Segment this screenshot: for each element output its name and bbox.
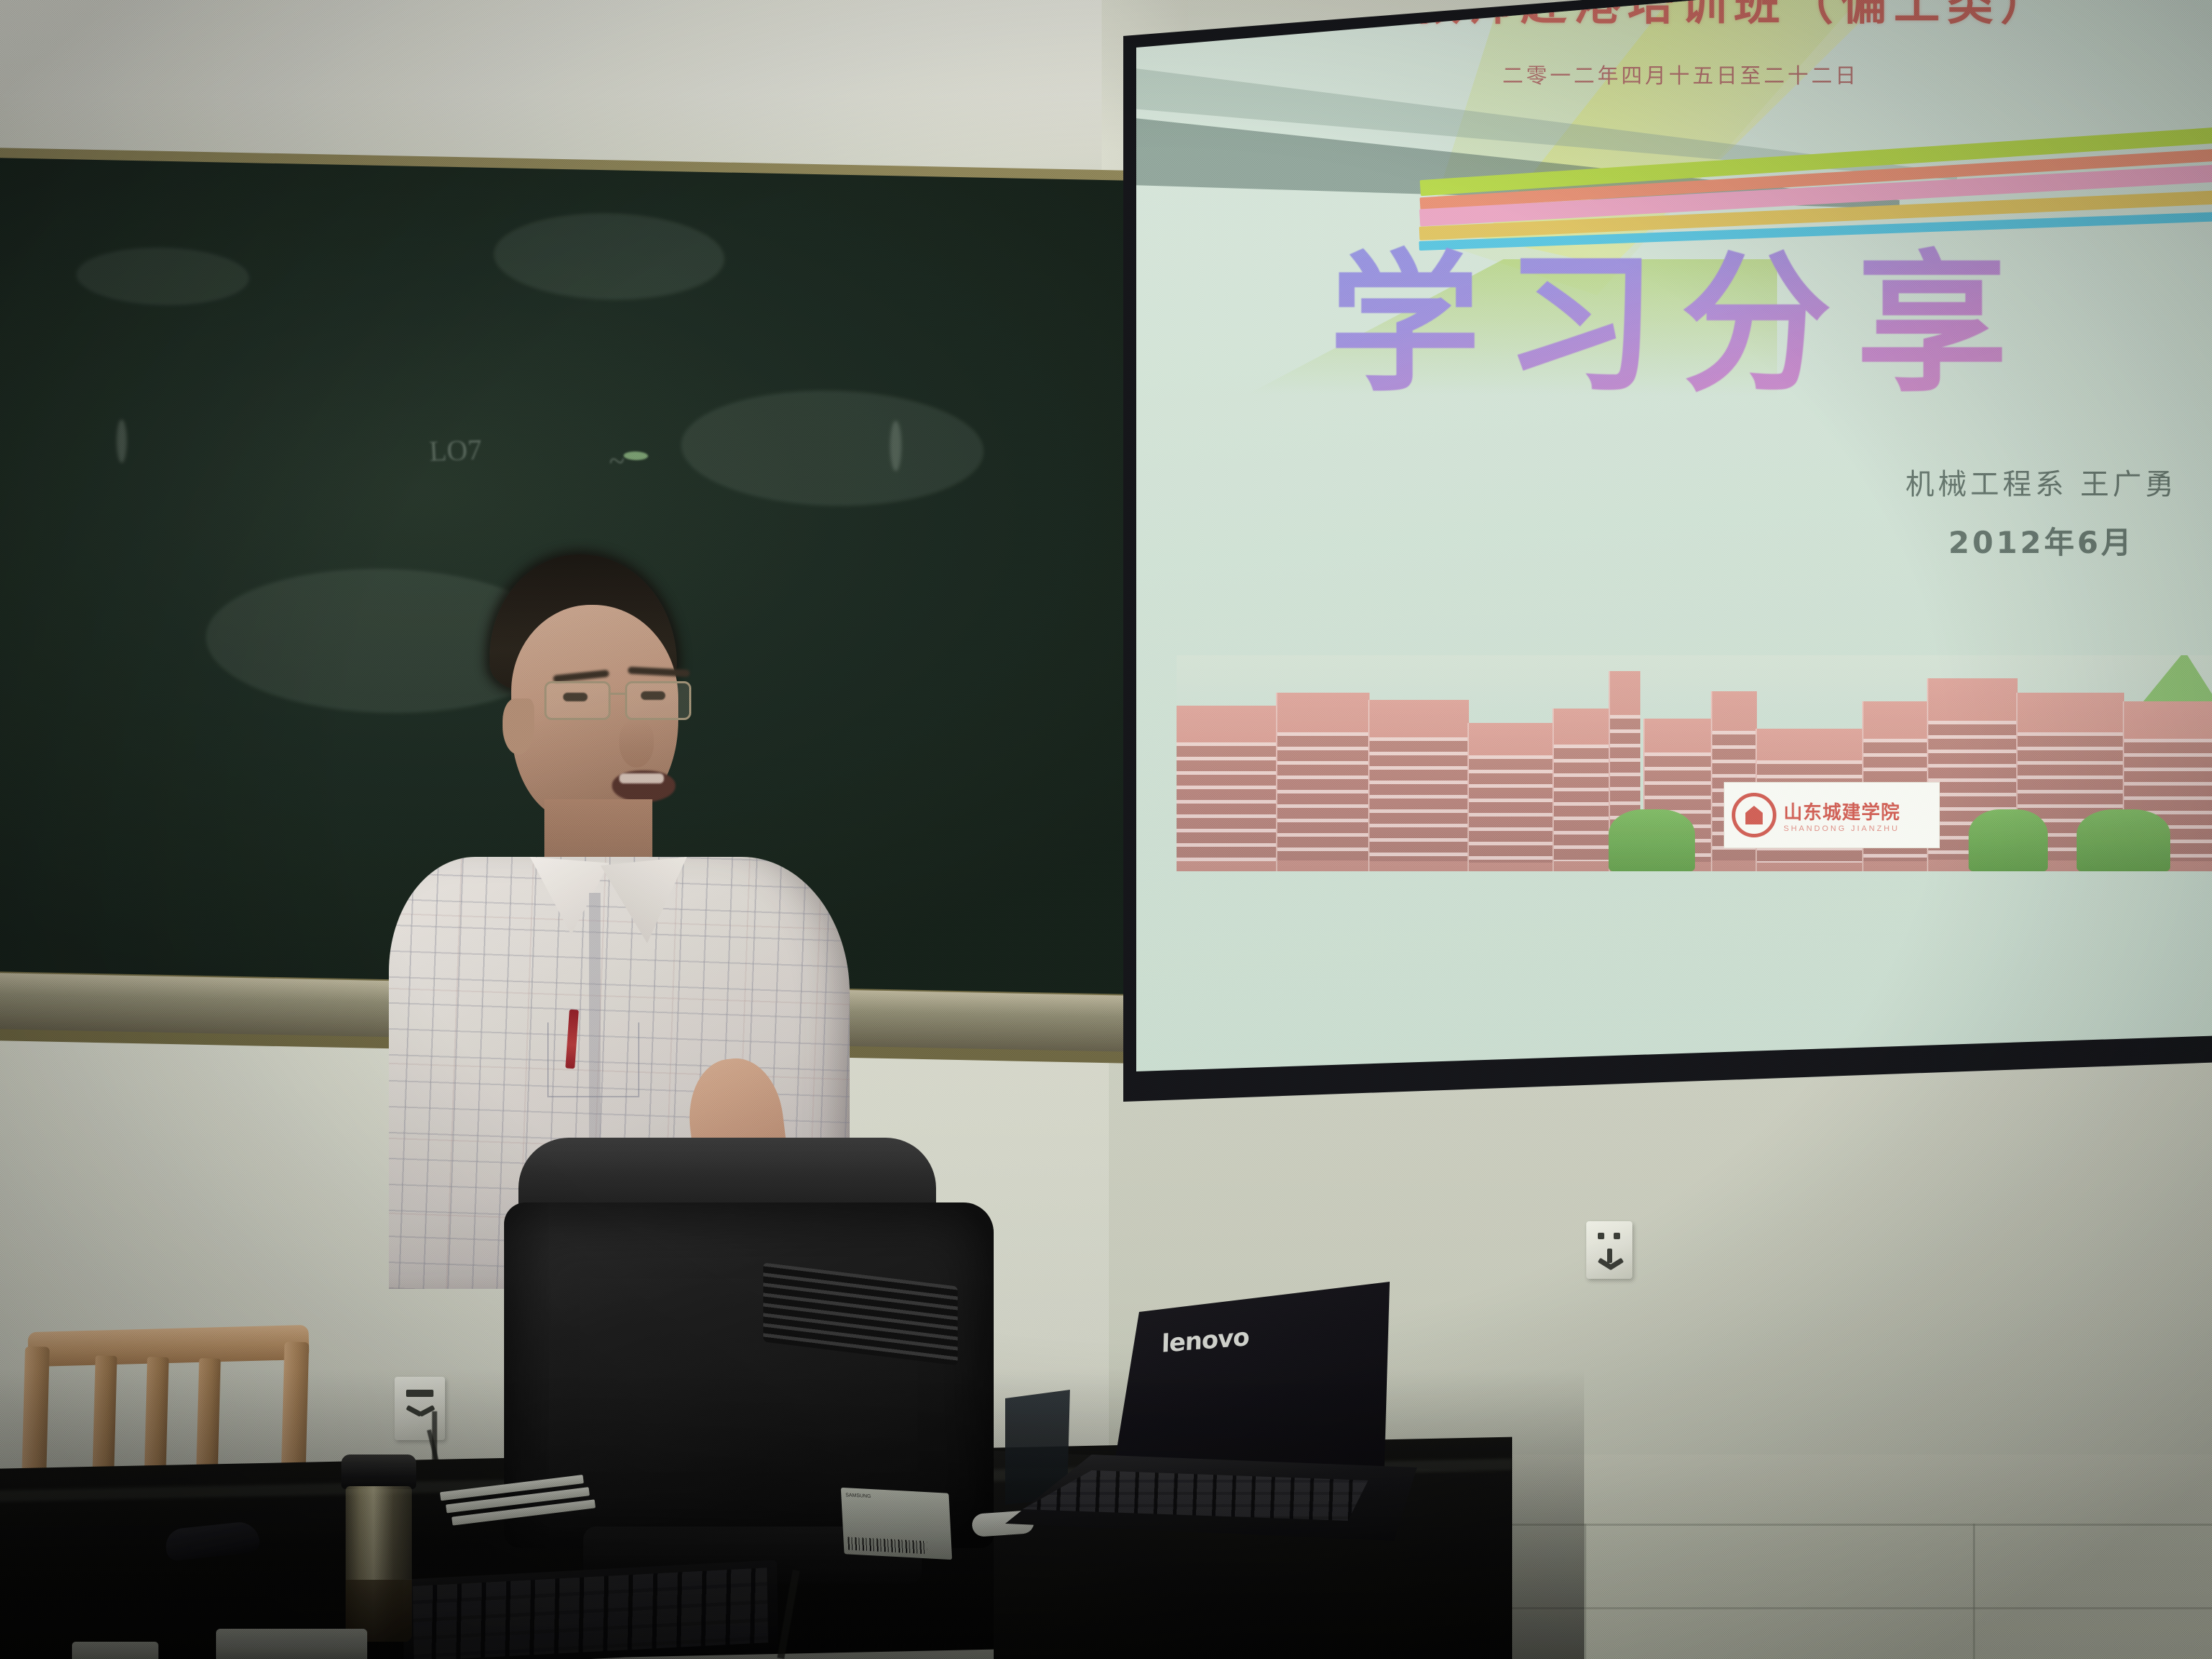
- lens-left: [544, 681, 611, 720]
- wall-outlet-left[interactable]: [395, 1377, 445, 1440]
- eyeglasses: [544, 681, 700, 724]
- crt-label-barcode: [848, 1537, 927, 1554]
- projection-screen: 实践基地资源建设 骨干教师赴港培训班（偏工类） 二零一二年四月十五日至二十二日 …: [1136, 0, 2212, 1130]
- keyboard-keys: [413, 1568, 768, 1659]
- projection-screen-assembly: 实践基地资源建设 骨干教师赴港培训班（偏工类） 二零一二年四月十五日至二十二日 …: [1123, 0, 2212, 1174]
- classroom-photo: LO7 ~ 实践基地资源建设 骨干教师赴: [0, 0, 2212, 1659]
- tea-jar[interactable]: [338, 1455, 418, 1642]
- presenter-ear: [503, 698, 534, 755]
- school-name-cn: 山东城建学院: [1784, 798, 1932, 824]
- presenter-nose: [619, 720, 654, 768]
- glasses-bridge: [611, 693, 626, 695]
- slide-month: 2012年6月: [1948, 518, 2134, 562]
- slide-date-line: 二零一二年四月十五日至二十二日: [1136, 59, 2212, 89]
- wall-outlet-right[interactable]: [1586, 1221, 1632, 1279]
- white-box-left[interactable]: [72, 1642, 158, 1659]
- slide-title: 学习分享: [1136, 202, 2212, 421]
- lens-right: [625, 681, 691, 720]
- wall-upper: [0, 0, 1152, 173]
- campus-signboard: 山东城建学院 SHANDONG JIANZHU: [1724, 782, 1940, 848]
- chalk-scribble: LO7: [428, 433, 483, 468]
- slide-campus-photo: 山东城建学院 SHANDONG JIANZHU: [1177, 655, 2212, 871]
- white-box-front[interactable]: [216, 1629, 367, 1659]
- crt-label-brand: SAMSUNG: [845, 1492, 945, 1505]
- school-seal-icon: [1732, 793, 1776, 837]
- school-name-en: SHANDONG JIANZHU: [1784, 824, 1932, 833]
- tea-jar-lid: [341, 1455, 416, 1489]
- chalk-scribble-2: ~: [609, 444, 625, 477]
- crt-spec-label: SAMSUNG: [841, 1488, 953, 1560]
- shirt-pocket: [547, 1022, 639, 1097]
- presenter-teeth: [619, 773, 664, 783]
- slide-author: 机械工程系 王广勇: [1905, 461, 2177, 503]
